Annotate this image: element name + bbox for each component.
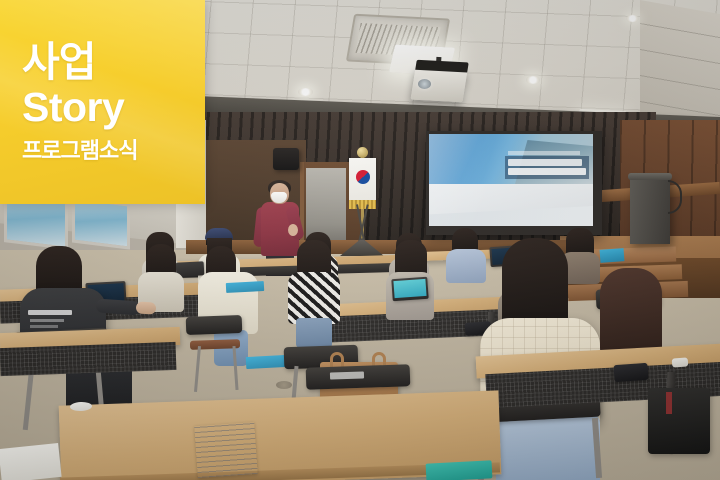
bag-strap	[666, 392, 672, 414]
hoodie-logo-subtext	[30, 325, 58, 328]
banner-line-2: Story	[22, 85, 205, 130]
bag-icon	[648, 388, 710, 454]
tablet-icon	[600, 248, 625, 263]
podium-icon	[630, 176, 670, 244]
floor-outlet	[276, 381, 292, 389]
attendee-jeans	[296, 318, 332, 348]
projector-lens	[418, 79, 431, 89]
lecture-hall-photo: 사업 Story 프로그램소식	[0, 0, 720, 480]
window	[72, 196, 130, 249]
taeguk-symbol	[356, 170, 370, 184]
podium-top	[628, 173, 672, 180]
foreground-attendee-hand	[136, 301, 157, 314]
slide-text-line	[508, 159, 582, 166]
document-icon	[194, 422, 257, 478]
laptop-screen	[393, 279, 426, 298]
ceiling-light-icon	[526, 76, 540, 84]
ceiling-light-icon	[626, 15, 639, 22]
flag-finial	[357, 147, 368, 158]
banner-line-1: 사업	[22, 41, 205, 84]
presenter-hand	[288, 224, 298, 236]
document-icon	[0, 443, 62, 480]
chair	[186, 315, 243, 335]
attendee-body	[446, 249, 486, 283]
flag-fringe	[349, 200, 376, 209]
slide-text-line	[508, 168, 586, 175]
ceiling-light-icon	[298, 88, 313, 96]
chair-label	[330, 371, 364, 379]
hoodie-logo-text	[28, 310, 72, 315]
foreground-attendee-arm	[96, 298, 141, 315]
folder-icon	[426, 460, 493, 480]
folder-icon	[226, 281, 264, 293]
phone-icon	[613, 363, 648, 382]
banner-line-3: 프로그램소식	[22, 139, 205, 163]
wall-speaker-icon	[273, 148, 299, 170]
slide-text-line	[508, 151, 580, 155]
hoodie-logo-subtext	[30, 319, 64, 322]
slide-lower-band	[429, 184, 593, 226]
foreground-attendee-jeans	[496, 414, 600, 480]
small-item	[672, 357, 689, 367]
banner-text-block: 사업 Story 프로그램소식	[0, 0, 205, 204]
attendee-body	[288, 272, 340, 324]
folder-icon	[246, 355, 287, 369]
